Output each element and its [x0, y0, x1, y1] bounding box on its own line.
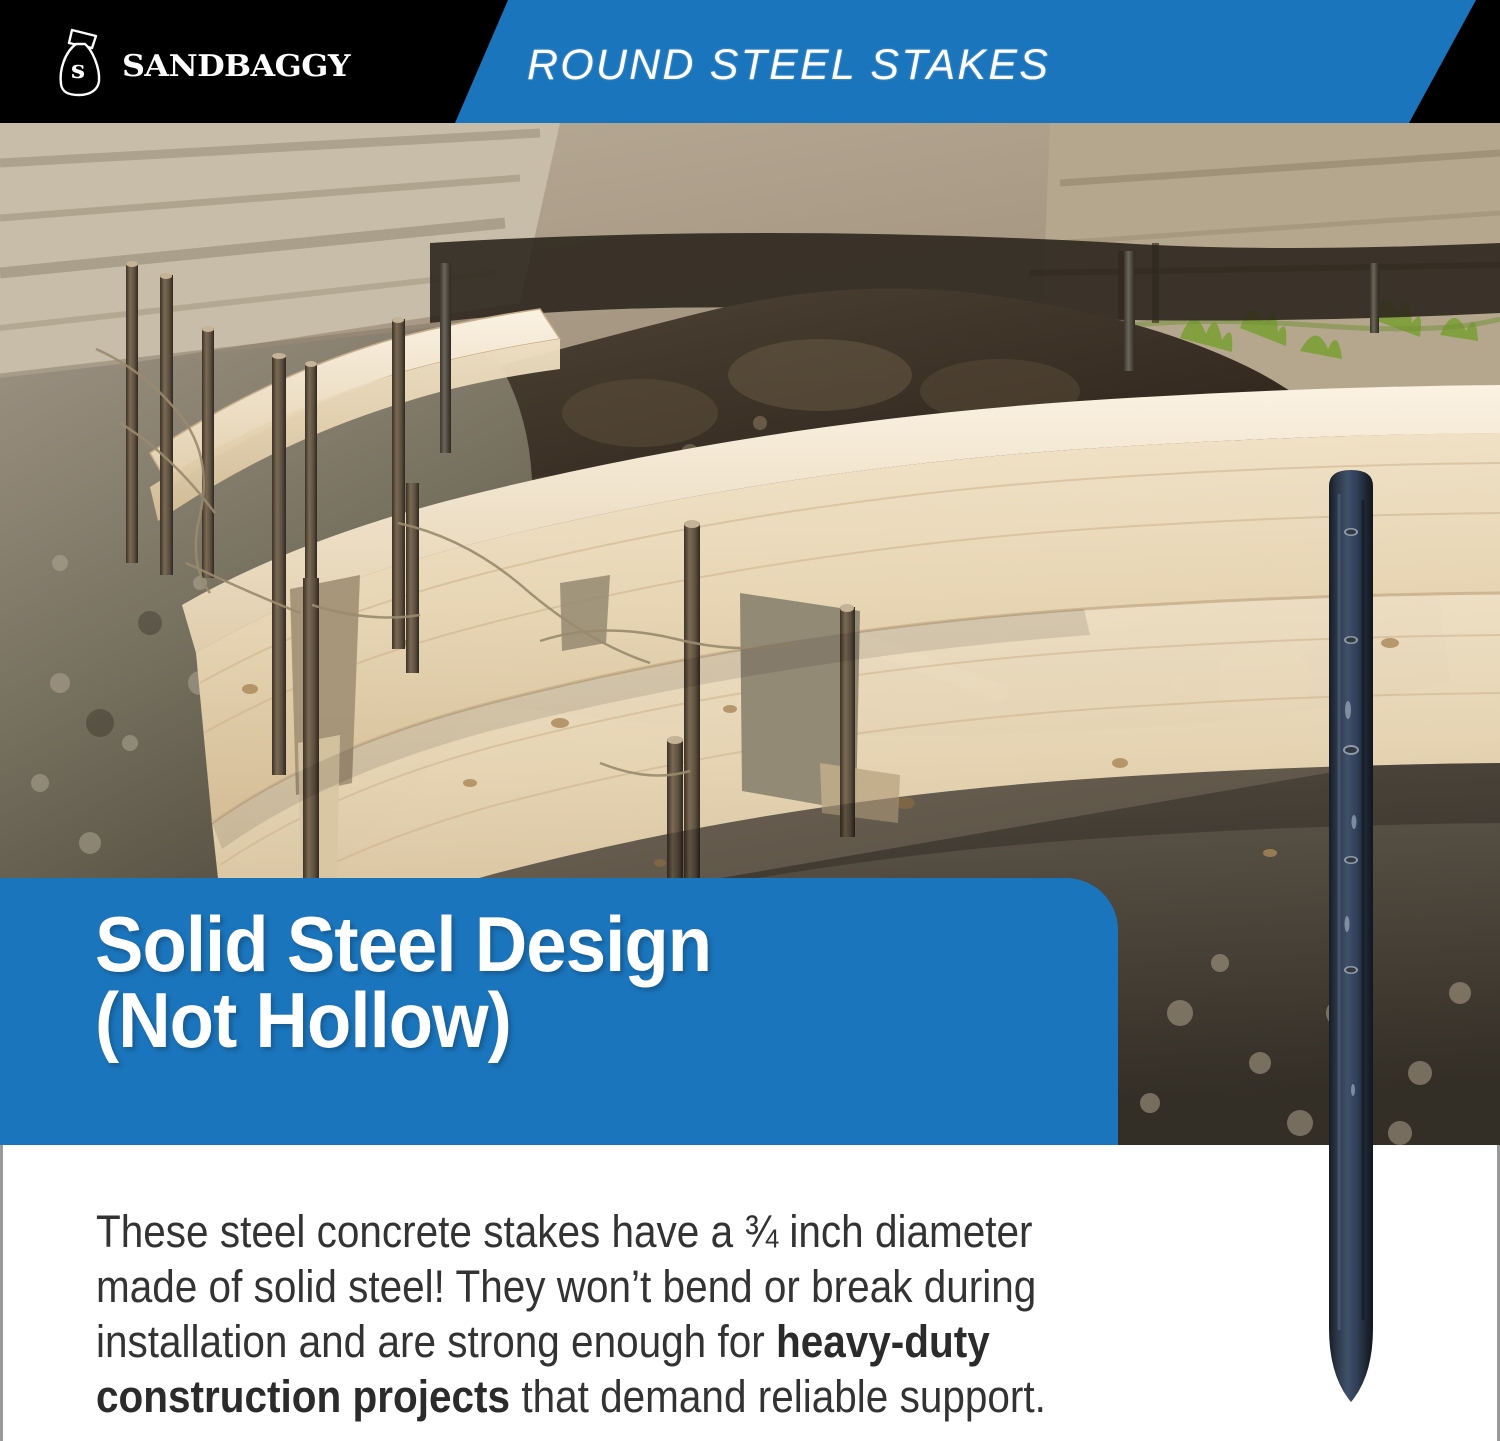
description-text: These steel concrete stakes have a ¾ inc…	[96, 1205, 1091, 1425]
description-part-1: These steel concrete stakes have a	[96, 1206, 744, 1257]
fraction-three-quarters: ¾	[744, 1206, 778, 1257]
sandbag-icon: s	[52, 26, 110, 98]
header-title: ROUND STEEL STAKES	[527, 41, 1050, 90]
round-steel-stake-foreground	[1325, 470, 1377, 1405]
page-header: s SANDBAGGY ROUND STEEL STAKES	[0, 0, 1500, 123]
description-section: These steel concrete stakes have a ¾ inc…	[0, 1145, 1500, 1441]
headline-text: Solid Steel Design (Not Hollow)	[95, 906, 711, 1059]
infographic-page: s SANDBAGGY ROUND STEEL STAKES	[0, 0, 1500, 1441]
svg-text:s: s	[71, 55, 85, 84]
headline-banner: Solid Steel Design (Not Hollow)	[0, 878, 1118, 1145]
brand-name: SANDBAGGY	[122, 41, 350, 84]
brand-logo[interactable]: s SANDBAGGY	[52, 26, 337, 98]
description-part-3: that demand reliable support.	[510, 1371, 1046, 1422]
